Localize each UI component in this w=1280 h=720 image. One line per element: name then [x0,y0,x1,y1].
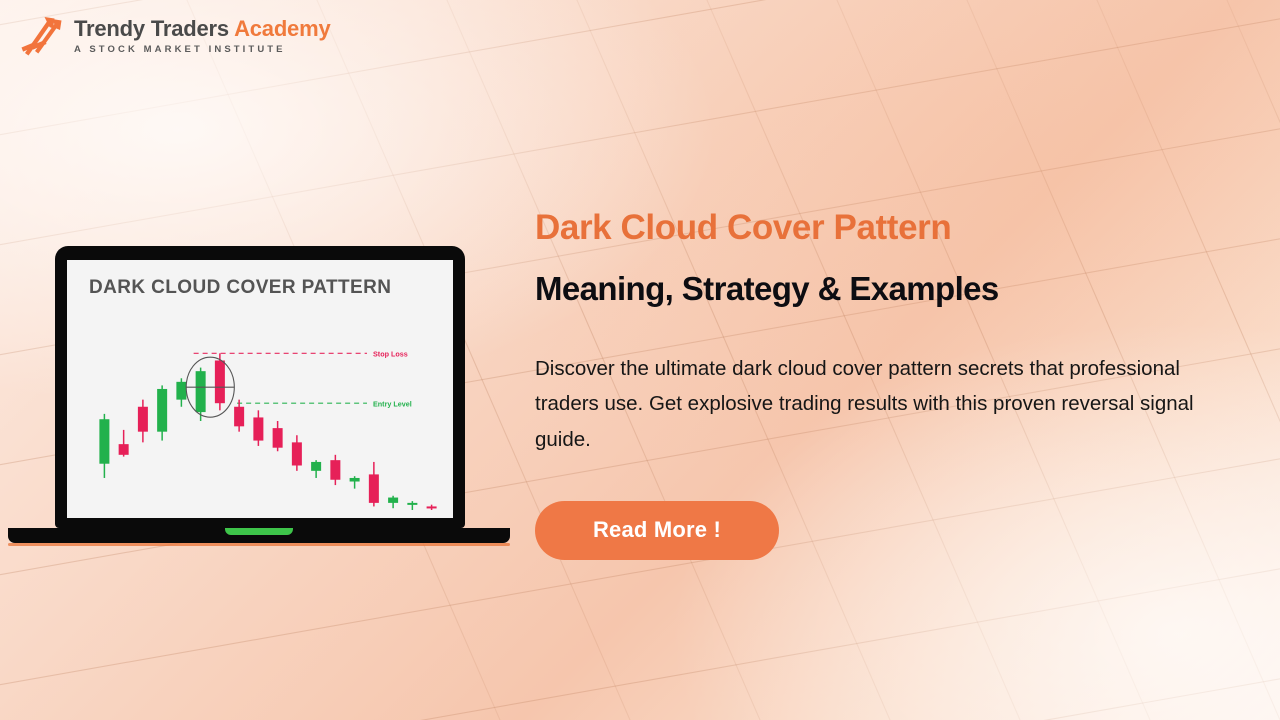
brand-title-accent: Academy [234,16,330,41]
brand-tagline: A STOCK MARKET INSTITUTE [74,44,331,55]
page-subtitle: Meaning, Strategy & Examples [535,270,1245,309]
svg-text:Entry Level: Entry Level [373,399,412,408]
brand-logo-text: Trendy Traders Academy A STOCK MARKET IN… [74,17,331,54]
laptop-lid: DARK CLOUD COVER PATTERN Stop LossEntry … [55,246,465,528]
laptop-trackpad-notch [225,528,293,535]
candle-15 [369,462,379,507]
candle-12 [311,460,321,478]
candle-2 [119,430,129,457]
candle-16 [388,496,398,508]
laptop-screen: DARK CLOUD COVER PATTERN Stop LossEntry … [67,260,453,518]
candle-5 [176,378,186,406]
brand-title: Trendy Traders Academy [74,17,331,41]
page-title: Dark Cloud Cover Pattern [535,208,1245,248]
candlestick-chart: Stop LossEntry Level [67,260,453,518]
annotation-entry-level: Entry Level [237,399,412,408]
candlestick-arrow-icon [18,14,64,58]
candle-8 [234,400,244,432]
candle-10 [273,421,283,451]
read-more-button[interactable]: Read More ! [535,501,779,560]
candle-11 [292,435,302,471]
laptop-mockup: DARK CLOUD COVER PATTERN Stop LossEntry … [8,246,510,546]
candle-18 [427,505,437,510]
brand-logo[interactable]: Trendy Traders Academy A STOCK MARKET IN… [18,14,331,58]
laptop-base-accent-line [8,543,510,546]
svg-text:Stop Loss: Stop Loss [373,350,408,359]
brand-title-primary: Trendy Traders [74,16,229,41]
candle-9 [253,410,263,446]
candle-14 [350,476,360,488]
page-description: Discover the ultimate dark cloud cover p… [535,351,1235,457]
candle-4 [157,385,167,440]
candle-1 [99,414,109,478]
candle-13 [330,455,340,485]
content-column: Dark Cloud Cover Pattern Meaning, Strate… [535,208,1245,560]
laptop-base [8,528,510,543]
candle-3 [138,400,148,443]
annotation-stop-loss: Stop Loss [194,350,408,359]
candle-17 [407,501,417,510]
